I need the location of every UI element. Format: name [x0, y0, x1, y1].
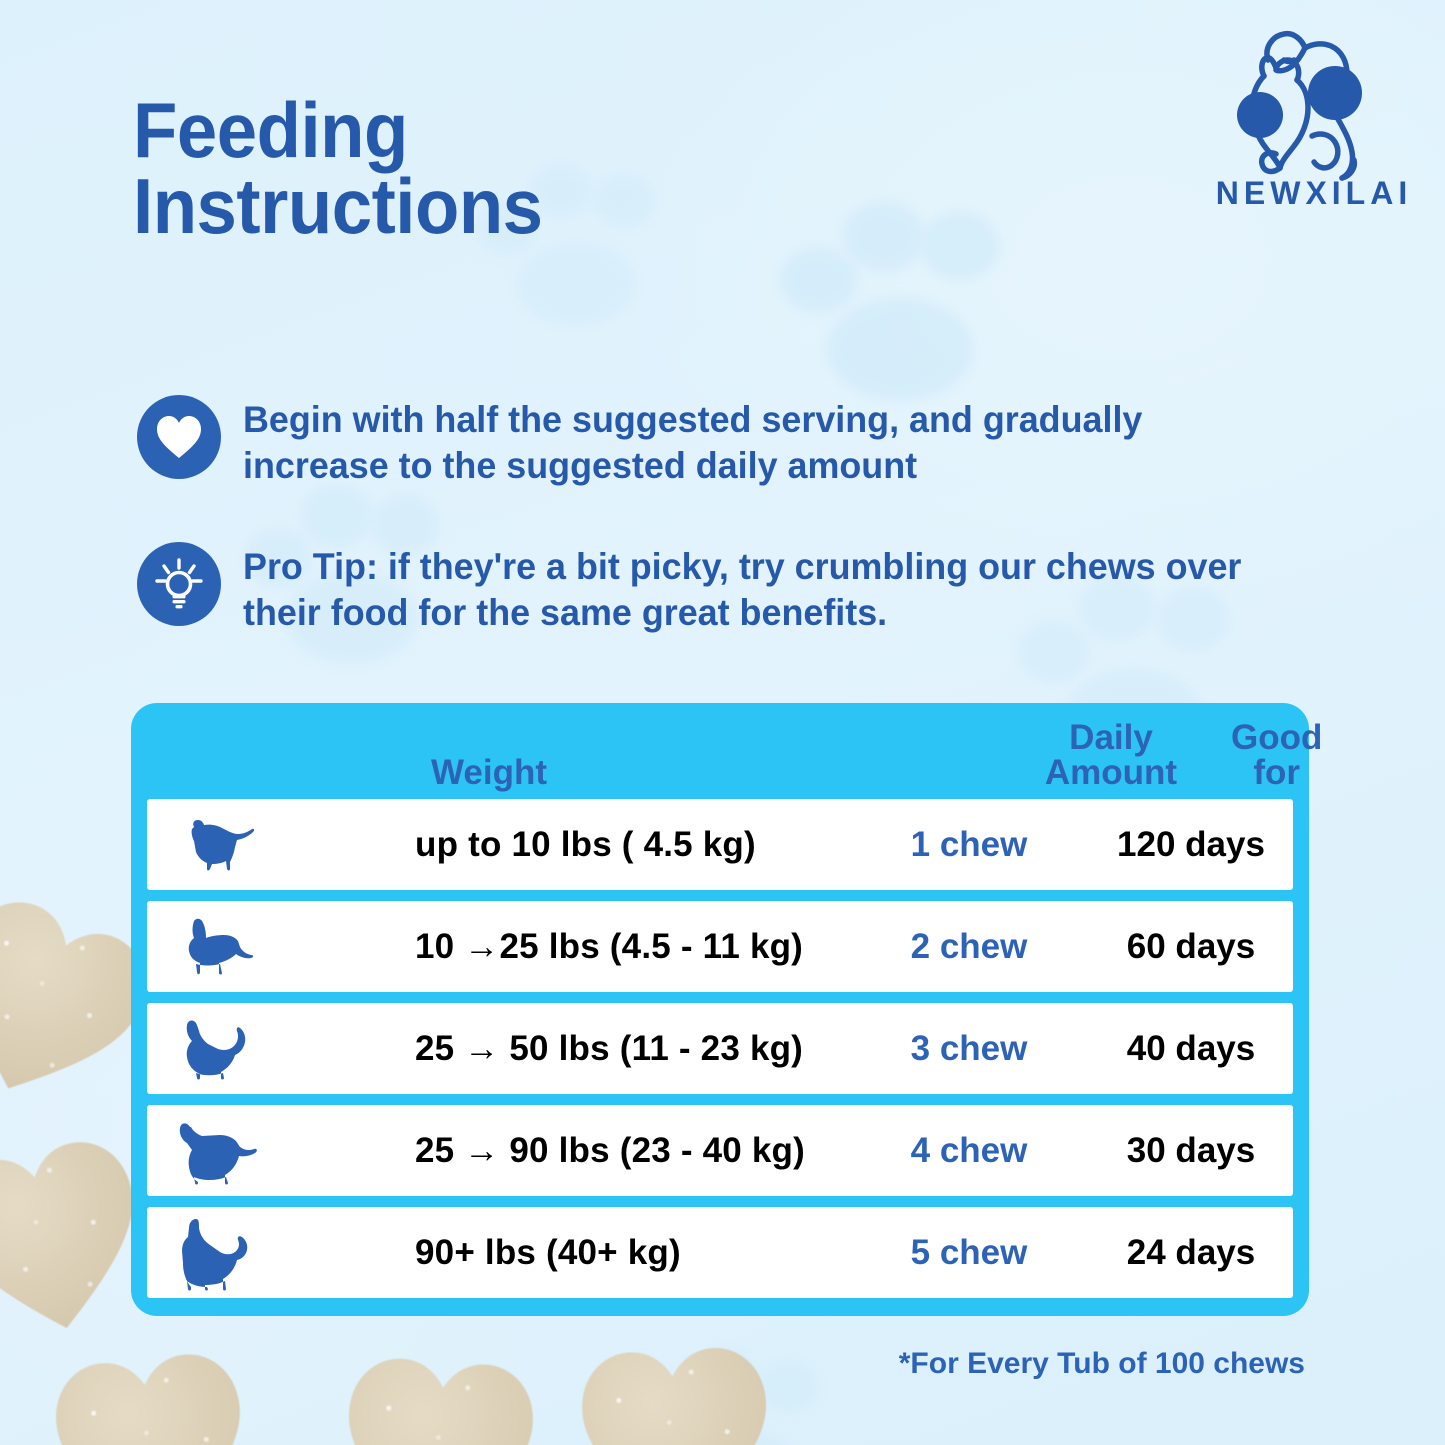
daily-amount-value: 5 chew [911, 1233, 1028, 1273]
table-cell-daily: 5 chew [849, 1207, 1089, 1298]
small-dog-icon [147, 799, 289, 890]
table-cell-daily: 1 chew [849, 799, 1089, 890]
table-cell-weight: 90+ lbs (40+ kg) [289, 1207, 849, 1298]
logo-circle-small [1237, 92, 1283, 138]
paw-watermark-icon [770, 185, 1030, 415]
brand-logo: NEWXILAI [1192, 18, 1436, 218]
giant-dog-icon [147, 1207, 289, 1298]
medium-dog-icon [147, 1003, 289, 1094]
brand-wordmark: NEWXILAI [1216, 175, 1412, 211]
table-body: up to 10 lbs ( 4.5 kg) 1 chew 120 days 1… [131, 799, 1309, 1298]
heart-icon [155, 414, 203, 460]
table-cell-good-for: 120 days [1089, 799, 1293, 890]
table-header-good-for: Good for [1231, 720, 1322, 799]
infographic-page: Feeding Instructions [0, 0, 1445, 1445]
table-cell-weight: up to 10 lbs ( 4.5 kg) [289, 799, 849, 890]
bullet-text-protip: Pro Tip: if they're a bit picky, try cru… [243, 540, 1271, 637]
table-cell-daily: 4 chew [849, 1105, 1089, 1196]
daily-amount-value: 1 chew [911, 825, 1028, 865]
table-cell-weight: 25 → 90 lbs (23 - 40 kg) [289, 1105, 849, 1196]
table-row: 25 → 90 lbs (23 - 40 kg) 4 chew 30 days [147, 1105, 1293, 1196]
weight-value: 90+ lbs (40+ kg) [415, 1233, 681, 1273]
lightbulb-icon [154, 558, 204, 610]
daily-amount-value: 4 chew [911, 1131, 1028, 1171]
table-row: 25 → 50 lbs (11 - 23 kg) 3 chew 40 days [147, 1003, 1293, 1094]
weight-value: 10 →25 lbs (4.5 - 11 kg) [415, 927, 803, 967]
lightbulb-icon-badge [137, 542, 221, 626]
table-header-row: Weight Daily Amount Good for [131, 703, 1309, 799]
table-cell-good-for: 30 days [1089, 1105, 1293, 1196]
chihuahua-dog-icon [147, 901, 289, 992]
bullet-item-serving: Begin with half the suggested serving, a… [137, 393, 1303, 490]
weight-value: up to 10 lbs ( 4.5 kg) [415, 825, 756, 865]
good-for-value: 24 days [1127, 1233, 1255, 1273]
table-cell-weight: 10 →25 lbs (4.5 - 11 kg) [289, 901, 849, 992]
heart-icon-badge [137, 395, 221, 479]
table-cell-daily: 3 chew [849, 1003, 1089, 1094]
good-for-value: 120 days [1117, 825, 1265, 865]
table-header-weight: Weight [289, 755, 991, 799]
chew-treat-icon [42, 1338, 273, 1445]
weight-value: 25 → 50 lbs (11 - 23 kg) [415, 1029, 803, 1069]
large-dog-icon [147, 1105, 289, 1196]
table-cell-good-for: 24 days [1089, 1207, 1293, 1298]
daily-amount-value: 3 chew [911, 1029, 1028, 1069]
footnote-text: *For Every Tub of 100 chews [899, 1347, 1305, 1381]
dog-and-cat-logo-icon: NEWXILAI [1192, 18, 1436, 218]
weight-value: 25 → 90 lbs (23 - 40 kg) [415, 1131, 805, 1171]
table-cell-good-for: 40 days [1089, 1003, 1293, 1094]
table-header-icon [131, 791, 289, 799]
bullet-item-protip: Pro Tip: if they're a bit picky, try cru… [137, 540, 1303, 637]
bullet-text-serving: Begin with half the suggested serving, a… [243, 393, 1271, 490]
table-row: 10 →25 lbs (4.5 - 11 kg) 2 chew 60 days [147, 901, 1293, 992]
table-cell-good-for: 60 days [1089, 901, 1293, 992]
table-row: up to 10 lbs ( 4.5 kg) 1 chew 120 days [147, 799, 1293, 890]
page-title: Feeding Instructions [133, 93, 543, 244]
table-header-daily-amount: Daily Amount [991, 720, 1231, 799]
chew-treat-icon [331, 1345, 560, 1445]
daily-amount-value: 2 chew [911, 927, 1028, 967]
feeding-table: Weight Daily Amount Good for up to 10 lb… [131, 703, 1309, 1316]
good-for-value: 60 days [1127, 927, 1255, 967]
good-for-value: 40 days [1127, 1029, 1255, 1069]
logo-circle-large [1308, 66, 1362, 120]
table-cell-weight: 25 → 50 lbs (11 - 23 kg) [289, 1003, 849, 1094]
chew-treat-icon [571, 1335, 786, 1445]
paw-watermark-icon [640, 1340, 840, 1445]
good-for-value: 30 days [1127, 1131, 1255, 1171]
table-row: 90+ lbs (40+ kg) 5 chew 24 days [147, 1207, 1293, 1298]
table-cell-daily: 2 chew [849, 901, 1089, 992]
